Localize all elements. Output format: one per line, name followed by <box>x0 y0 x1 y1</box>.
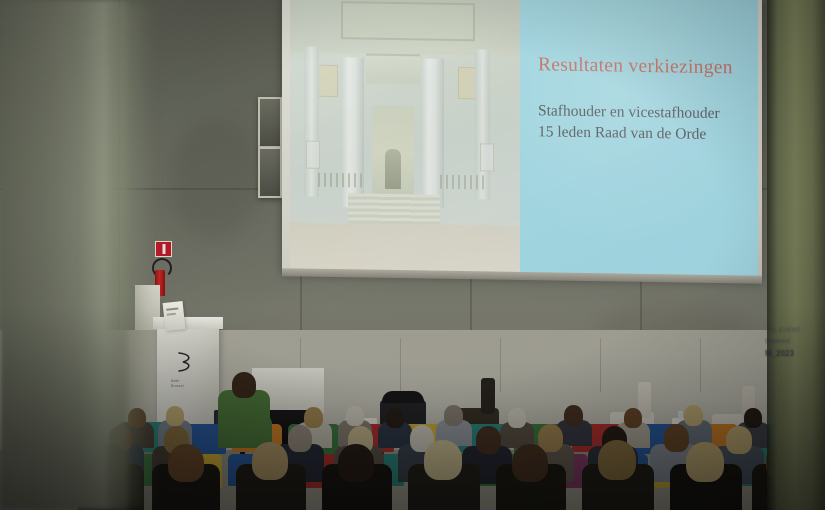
right-pillar <box>767 0 825 510</box>
videographer-head <box>232 372 256 398</box>
event-sign-line-1: · HL EVENT · <box>765 326 811 337</box>
presentation-slide: Resultaten verkiezingen Stafhouder en vi… <box>520 0 758 277</box>
audience-member <box>304 407 323 428</box>
fire-extinguisher-sign <box>155 241 172 257</box>
audience-member <box>624 408 642 428</box>
audience-member-front <box>598 440 636 480</box>
audience-member <box>346 406 364 426</box>
audience-member <box>288 425 312 452</box>
audience-member-front <box>512 444 548 482</box>
left-pillar-edge-blur <box>112 0 152 510</box>
slide-subtitle-line-2: 15 leden Raad van de Orde <box>538 122 756 146</box>
audience-member <box>476 426 501 454</box>
audience-member <box>564 405 583 426</box>
audience-member-front <box>252 442 288 480</box>
wall-speaker-panel-top <box>258 97 282 148</box>
audience-member <box>386 408 404 428</box>
audience-member-front <box>168 444 204 482</box>
projection-screen: Resultaten verkiezingen Stafhouder en vi… <box>282 0 762 279</box>
audience-member-front <box>686 442 724 482</box>
slide-subtitle: Stafhouder en vicestafhouder 15 leden Ra… <box>538 101 756 146</box>
audience-member <box>726 426 752 454</box>
audience-member-front <box>424 440 462 480</box>
event-sign-line-3: M_2023 <box>765 347 811 360</box>
audience-member-front <box>338 444 374 482</box>
audience-member <box>744 408 762 428</box>
videographer-body <box>218 390 270 448</box>
left-foreground-pillar <box>0 0 128 510</box>
audience-member <box>664 424 689 452</box>
audience-member <box>684 405 703 426</box>
slide-subtitle-line-1: Stafhouder en vicestafhouder <box>538 101 756 125</box>
podium-notes-paper <box>163 301 186 331</box>
audience-member <box>444 405 463 426</box>
photo-scene: Resultaten verkiezingen Stafhouder en vi… <box>0 0 825 510</box>
wall-speaker-panel-bottom <box>258 147 282 198</box>
event-sign: · HL EVENT · bswoord · M_2023 <box>765 326 811 388</box>
audience-member <box>508 408 526 428</box>
event-sign-line-2: bswoord · <box>765 337 811 348</box>
slide-photo-courthouse <box>290 0 522 272</box>
slide-title: Resultaten verkiezingen <box>538 54 753 79</box>
audience-member <box>166 406 184 426</box>
